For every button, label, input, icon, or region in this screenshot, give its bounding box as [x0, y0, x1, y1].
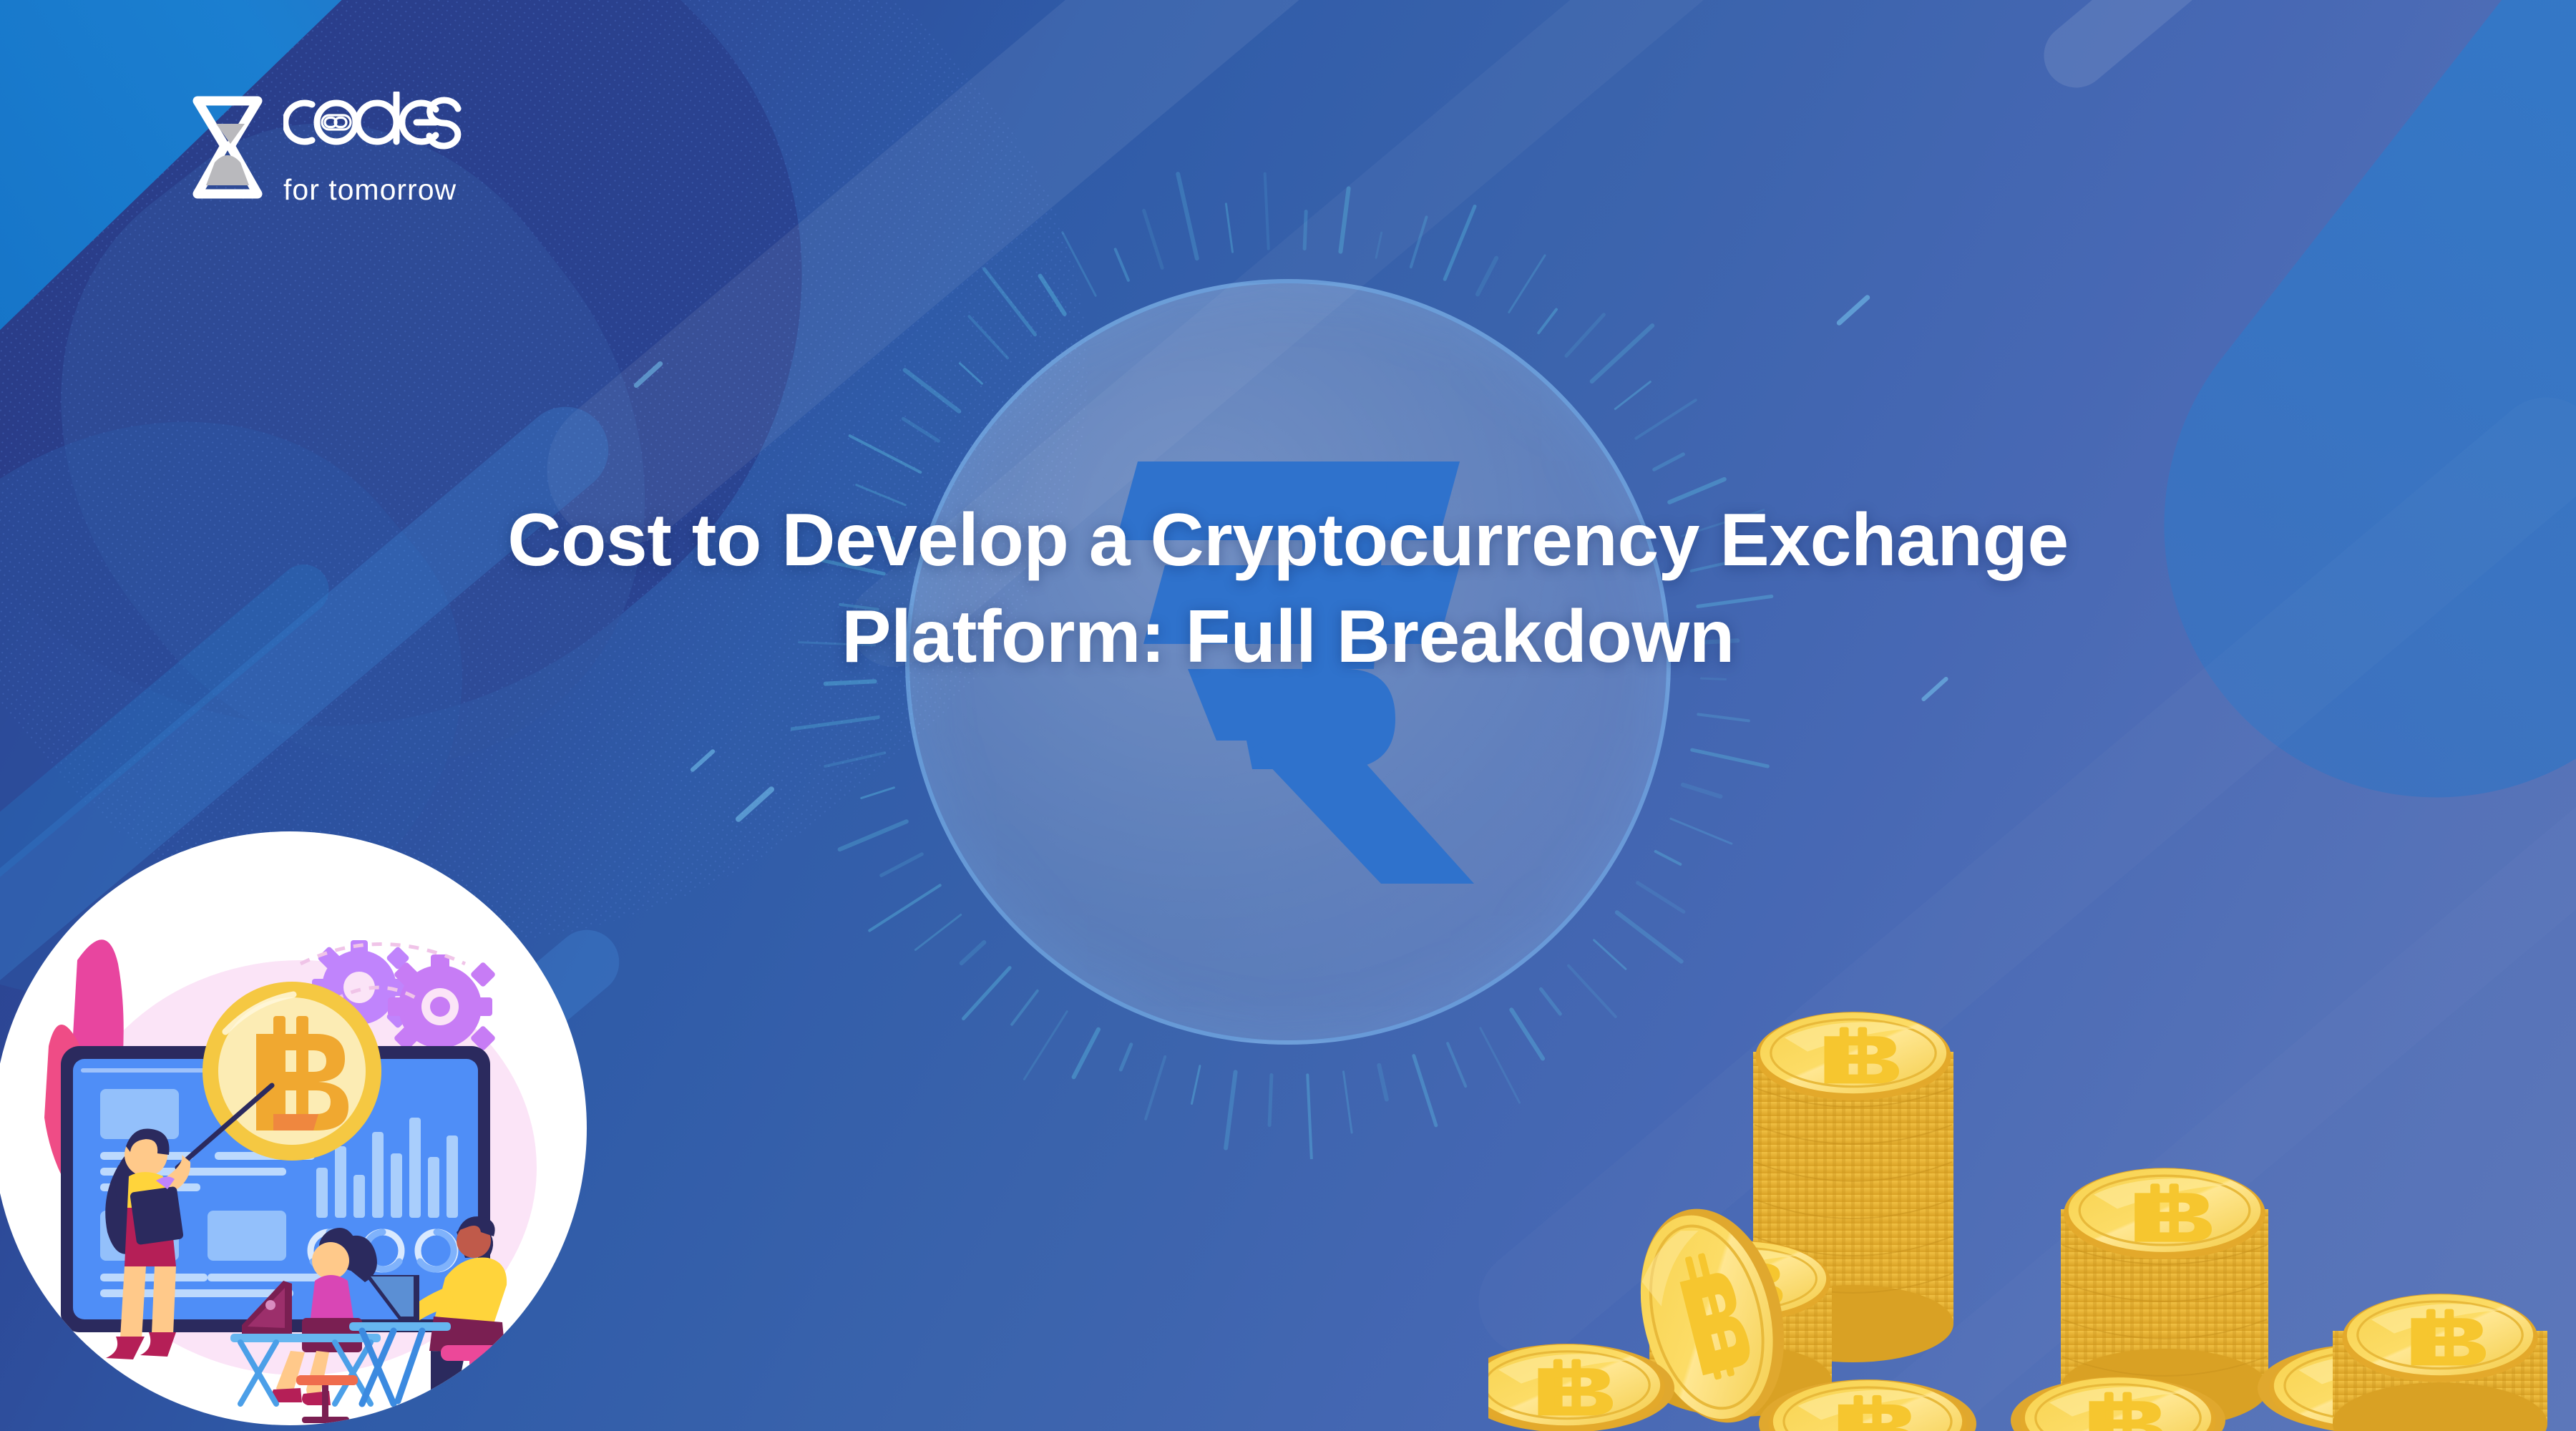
logo-tagline: for tomorrow — [283, 173, 462, 207]
bitcoin-coin-icon — [203, 982, 381, 1161]
chain-link-icon — [322, 115, 351, 130]
title-line-2: Platform: Full Breakdown — [841, 595, 1735, 678]
crypto-analytics-illustration — [0, 831, 587, 1425]
hourglass-icon — [187, 94, 268, 205]
bitcoin-coin-stack — [1488, 973, 2576, 1431]
coin-stack-far-right — [2333, 1294, 2547, 1431]
page-title: Cost to Develop a Cryptocurrency Exchang… — [0, 492, 2576, 685]
logo-text-svg — [283, 92, 462, 183]
coin-flat-left — [1488, 1344, 1674, 1431]
title-line-1: Cost to Develop a Cryptocurrency Exchang… — [507, 499, 2068, 582]
hero-banner: {} Cost to De — [0, 0, 2576, 1431]
logo-wordmark: for tomorrow — [283, 92, 462, 207]
dash-accent — [1835, 294, 1870, 326]
brand-logo[interactable]: for tomorrow — [187, 92, 462, 207]
